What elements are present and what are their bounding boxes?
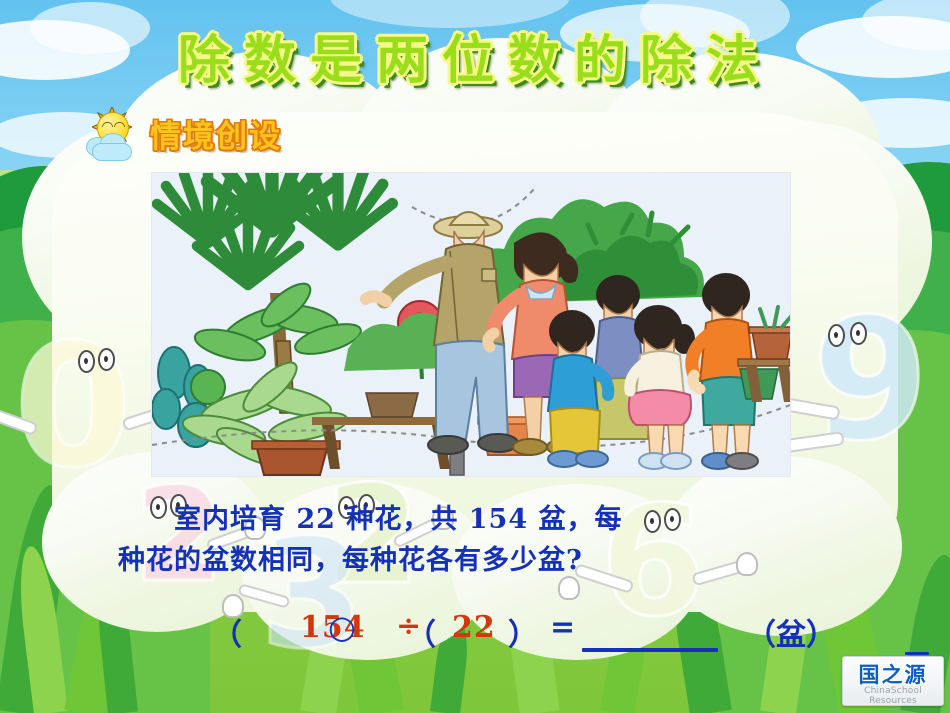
equation-equals-sign: = <box>550 610 575 645</box>
slide-title: 除数是两位数的除法 <box>0 18 950 93</box>
sun-cloud-icon <box>84 105 140 161</box>
equation-inner-open-paren: （ <box>406 610 436 654</box>
section-badge: 情境创设 <box>84 104 282 162</box>
greenhouse-illustration-art <box>152 173 790 476</box>
equation-row: （ 154 ○ ÷ （ 22 ） = （盆） <box>200 608 820 660</box>
illustration-figure-student-orange <box>692 273 778 469</box>
slide-canvas: 0 2 2 3 6 9 <box>0 0 950 713</box>
equation-trailing-blank <box>905 652 929 655</box>
problem-line-1: 室内培育 22 种花，共 154 盆，每 <box>118 500 848 541</box>
equation-circle-placeholder: ○ <box>328 608 356 646</box>
background-mascot-9: 9 <box>812 296 929 464</box>
background-mascot-0: 0 <box>14 322 132 492</box>
equation-unit-label: （盆） <box>746 610 836 654</box>
equation-close-paren: ） <box>508 610 538 654</box>
section-badge-label: 情境创设 <box>150 111 282 156</box>
logo-chinese-name: 国之源 <box>843 659 943 689</box>
illustration-figure-student-girl <box>629 305 695 469</box>
watermark-logo: 国之源 ChinaSchool Resources <box>842 656 944 706</box>
greenhouse-illustration <box>152 173 790 476</box>
equation-divisor: 22 <box>452 610 496 645</box>
problem-statement: 室内培育 22 种花，共 154 盆，每 种花的盆数相同，每种花各有多少盆? <box>118 500 848 581</box>
equation-open-paren: （ <box>212 610 242 654</box>
equation-answer-underline <box>582 648 718 652</box>
logo-english-name: ChinaSchool Resources <box>843 686 943 706</box>
problem-line-2: 种花的盆数相同，每种花各有多少盆? <box>118 541 848 582</box>
